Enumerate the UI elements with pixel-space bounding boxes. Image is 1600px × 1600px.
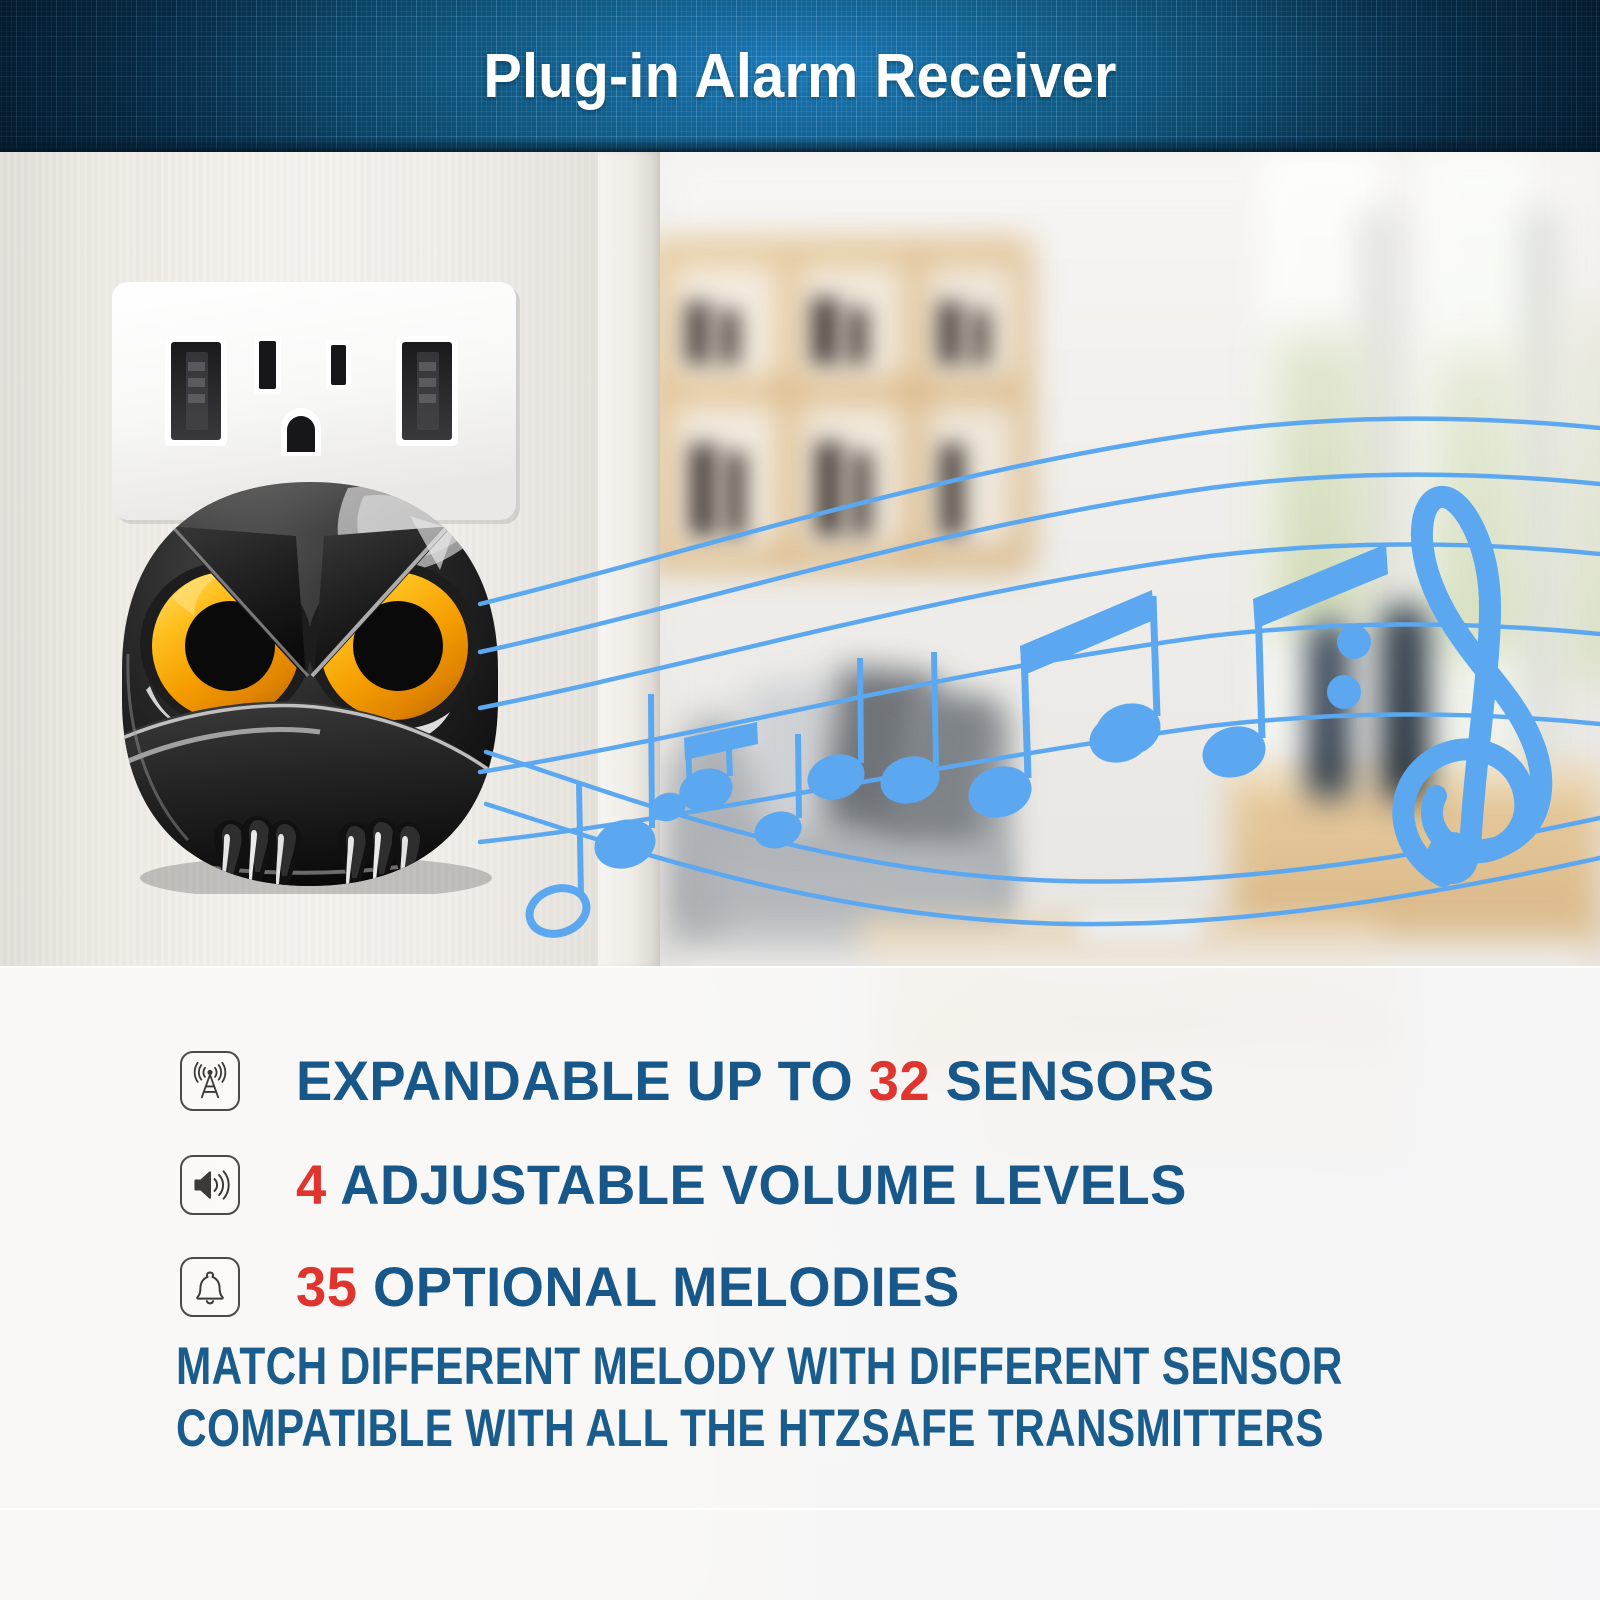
hero-scene bbox=[0, 152, 1600, 968]
feature-row-volume: 4 ADJUSTABLE VOLUME LEVELS bbox=[180, 1152, 1214, 1217]
usb-port-right bbox=[396, 336, 458, 446]
section-divider-top bbox=[0, 966, 1600, 968]
feature-label-sensors: EXPANDABLE UP TO 32 SENSORS bbox=[296, 1048, 1215, 1113]
feature-label-melodies: 35 OPTIONAL MELODIES bbox=[296, 1254, 960, 1319]
feature-label-volume: 4 ADJUSTABLE VOLUME LEVELS bbox=[296, 1152, 1187, 1217]
section-divider-bottom bbox=[0, 1508, 1600, 1510]
wall-corner-edge bbox=[598, 152, 660, 968]
antenna-tower-icon bbox=[180, 1051, 240, 1111]
feature-row-melodies: 35 OPTIONAL MELODIES bbox=[180, 1254, 980, 1319]
usb-port-left bbox=[165, 336, 227, 446]
feature-row-sensors: EXPANDABLE UP TO 32 SENSORS bbox=[180, 1048, 1243, 1113]
owl-alarm-receiver bbox=[110, 474, 510, 894]
tagline-match-melody: MATCH DIFFERENT MELODY WITH DIFFERENT SE… bbox=[176, 1336, 1343, 1397]
speaker-volume-icon bbox=[180, 1155, 240, 1215]
living-room-background bbox=[660, 152, 1600, 968]
product-marketing-image: Plug-in Alarm Receiver bbox=[0, 0, 1600, 1600]
tagline-compatible: COMPATIBLE WITH ALL THE HTZSAFE TRANSMIT… bbox=[176, 1398, 1324, 1459]
bell-icon bbox=[180, 1257, 240, 1317]
page-title: Plug-in Alarm Receiver bbox=[56, 0, 1544, 152]
